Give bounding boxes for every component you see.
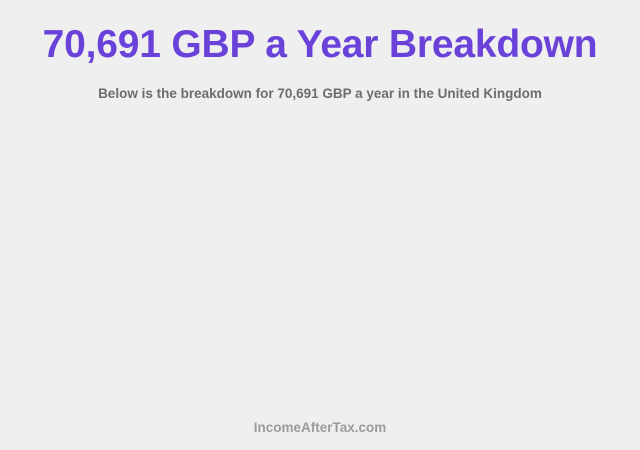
footer-brand-label: IncomeAfterTax.com	[254, 420, 387, 435]
site-footer: IncomeAfterTax.com	[0, 419, 640, 437]
breakdown-page: 70,691 GBP a Year Breakdown Below is the…	[0, 0, 640, 450]
page-title: 70,691 GBP a Year Breakdown	[0, 22, 640, 68]
page-subtitle: Below is the breakdown for 70,691 GBP a …	[0, 85, 640, 102]
breakdown-content-area	[0, 112, 640, 407]
